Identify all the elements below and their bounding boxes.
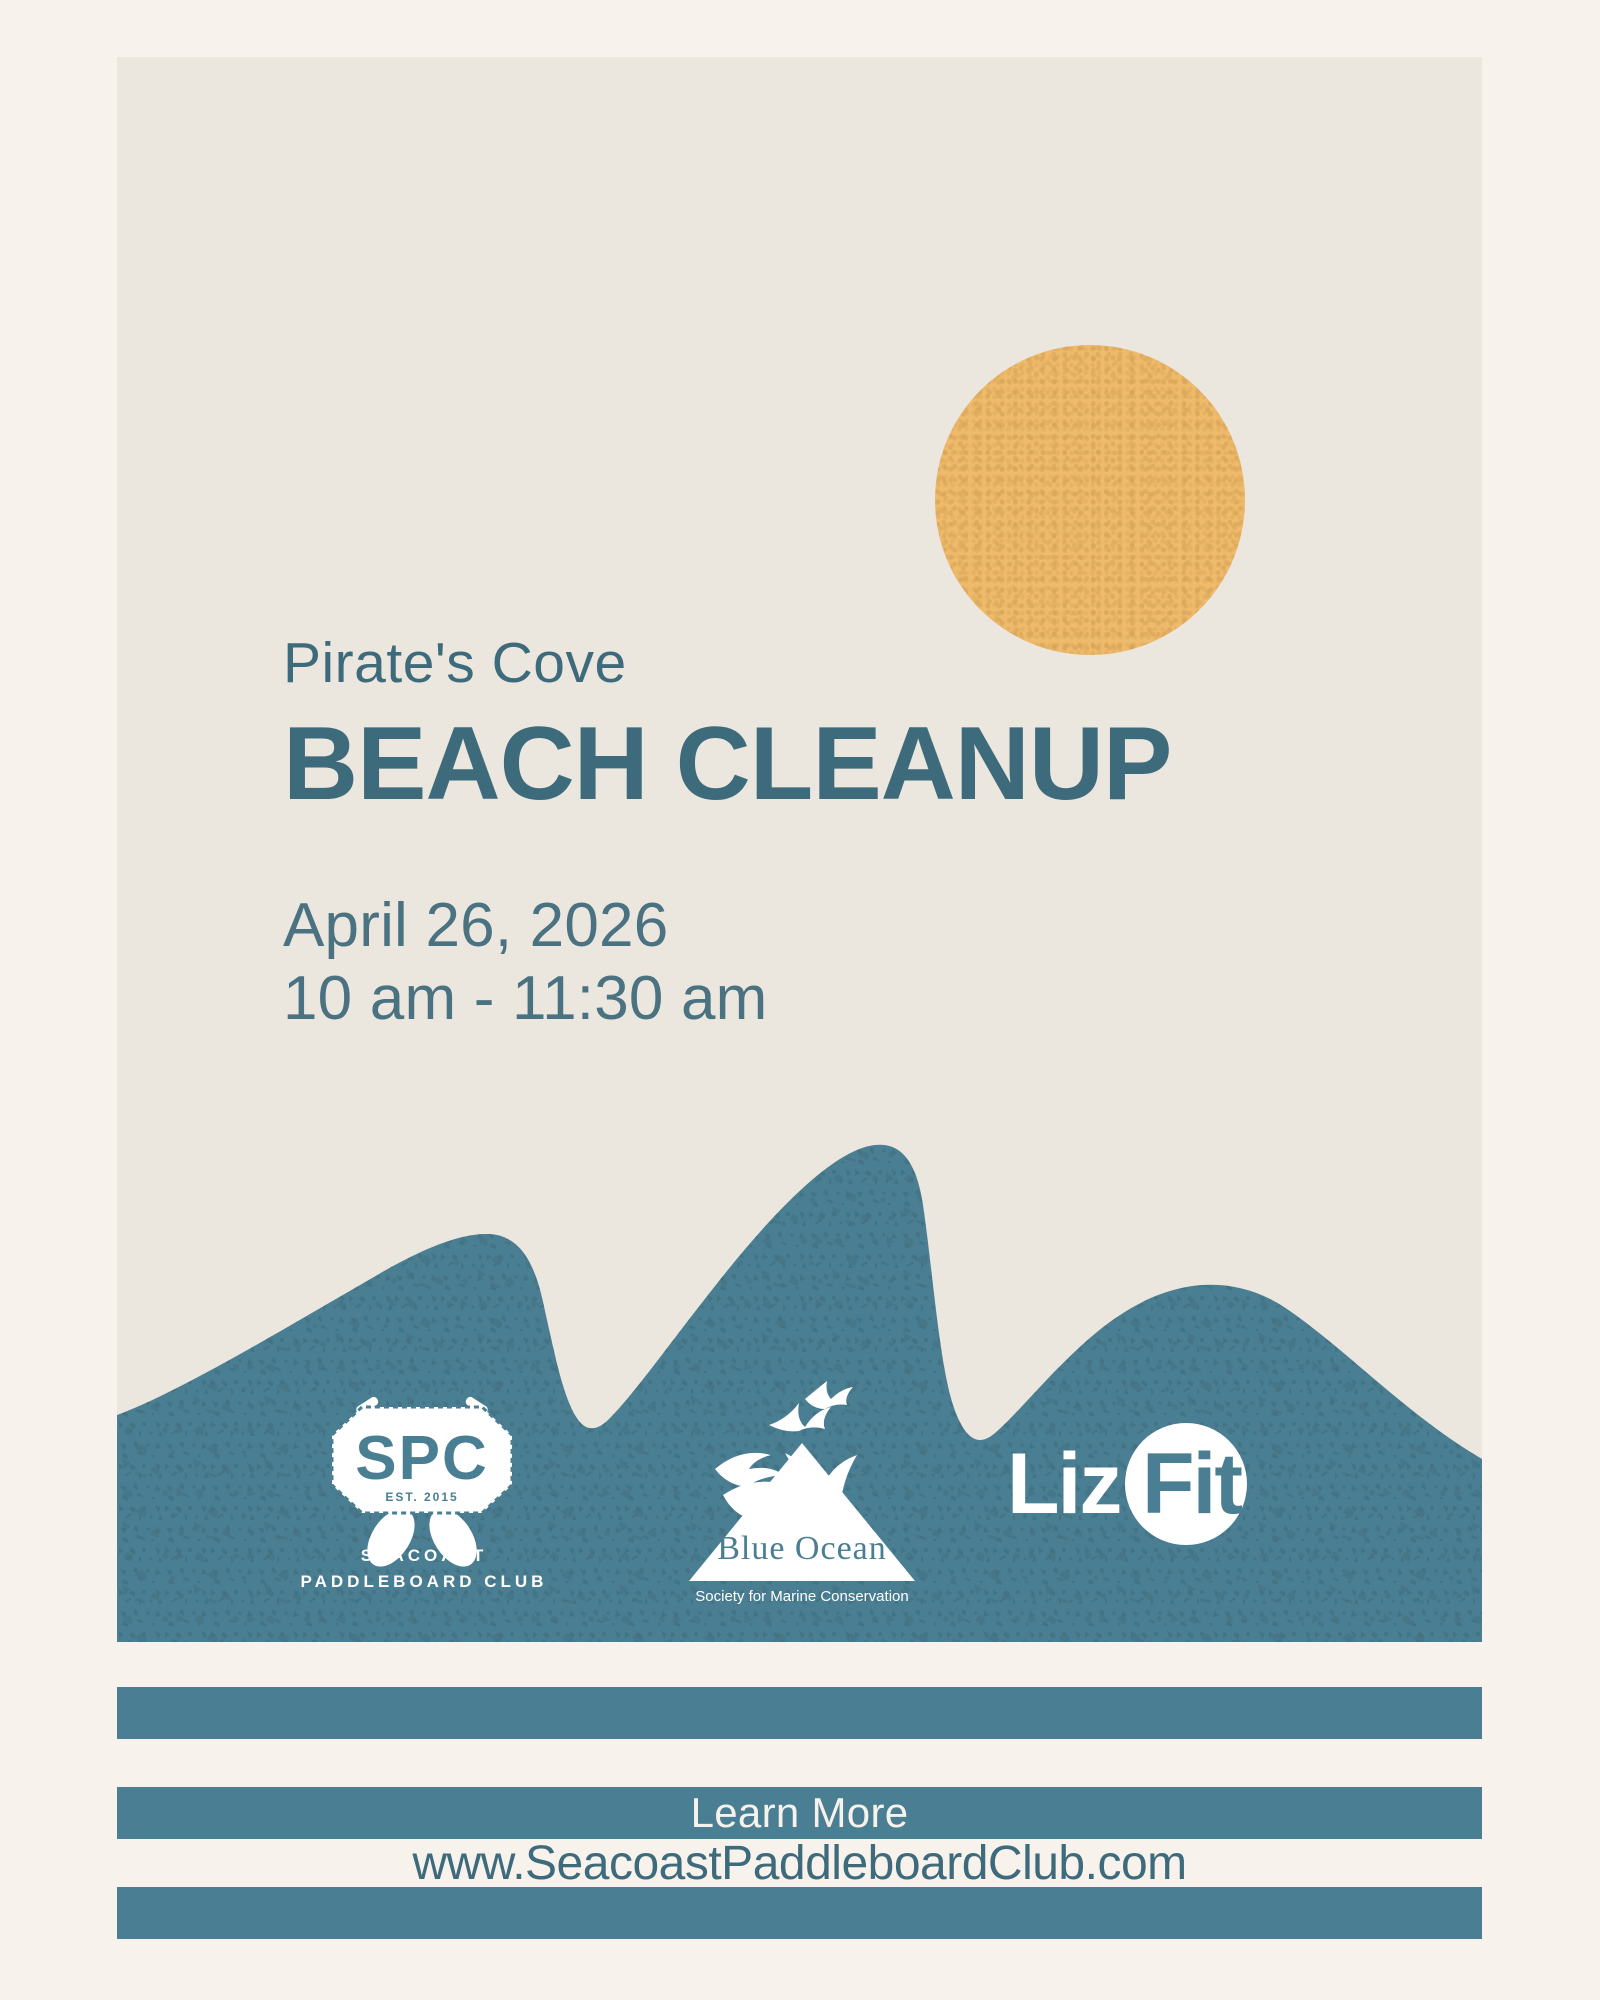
poster-inner-panel: Pirate's Cove BEACH CLEANUP April 26, 20… xyxy=(117,57,1482,1642)
headline-block: Pirate's Cove BEACH CLEANUP xyxy=(283,635,1403,816)
footer-bar-bottom xyxy=(117,1887,1482,1939)
spc-paddleboard-logo-icon: SPC EST. 2015 SEACOAST PADDLEBOARD CLUB xyxy=(272,1395,572,1595)
lizfit-logo-icon: Liz Fit xyxy=(1007,1419,1307,1549)
sun-texture-overlay xyxy=(935,345,1245,655)
blue-ocean-name: Blue Ocean xyxy=(717,1530,887,1567)
event-datetime: April 26, 2026 10 am - 11:30 am xyxy=(283,890,768,1035)
poster-canvas: Pirate's Cove BEACH CLEANUP April 26, 20… xyxy=(0,0,1600,2000)
website-url[interactable]: www.SeacoastPaddleboardClub.com xyxy=(117,1839,1482,1887)
sponsor-logo-row: SPC EST. 2015 SEACOAST PADDLEBOARD CLUB xyxy=(117,1377,1482,1607)
spc-initials: SPC xyxy=(355,1424,488,1493)
spc-line1: SEACOAST xyxy=(361,1546,487,1565)
spc-line2: PADDLEBOARD CLUB xyxy=(301,1572,548,1591)
learn-more-label: Learn More xyxy=(117,1787,1482,1839)
lizfit-part2: Fit xyxy=(1142,1419,1241,1549)
event-date: April 26, 2026 xyxy=(283,890,768,963)
page-title: BEACH CLEANUP xyxy=(283,714,1403,816)
event-location-eyebrow: Pirate's Cove xyxy=(283,635,1403,692)
event-time: 10 am - 11:30 am xyxy=(283,963,768,1036)
footer-bar-top xyxy=(117,1687,1482,1739)
lizfit-part1: Liz xyxy=(1007,1419,1120,1549)
blue-ocean-tagline: Society for Marine Conservation xyxy=(695,1588,908,1605)
sun-icon xyxy=(935,345,1245,655)
spc-established: EST. 2015 xyxy=(385,1490,458,1504)
blue-ocean-logo-icon: Blue Ocean Society for Marine Conservati… xyxy=(677,1377,927,1612)
